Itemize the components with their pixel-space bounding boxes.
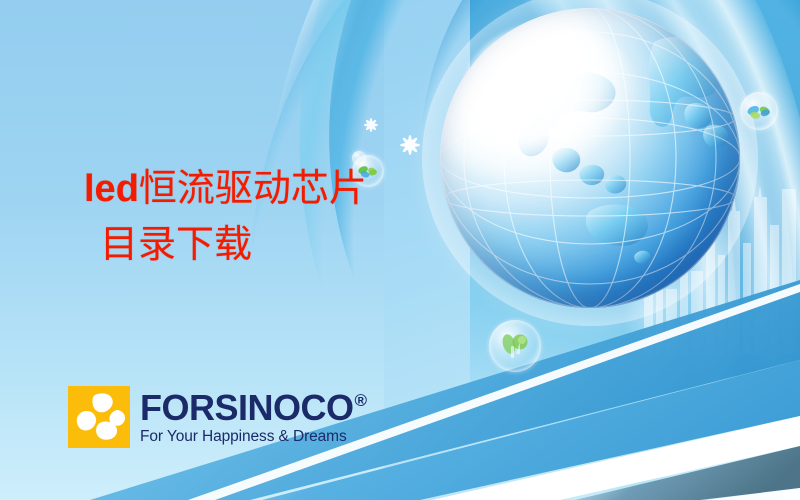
flower-petals: [68, 386, 130, 448]
headline-latin: led: [84, 168, 139, 210]
logo-tagline: For Your Happiness & Dreams: [140, 429, 367, 445]
starburst-icon-large: [396, 131, 424, 159]
headline-han: 恒流驱动芯片: [139, 166, 367, 210]
leaf-pair-icon: [489, 320, 541, 372]
logo-wordmark-text: FORSINOCO: [140, 390, 354, 426]
bubble-leaf-large: [489, 320, 541, 372]
headline-line-2: 目录下载: [100, 220, 367, 269]
page-title: led恒流驱动芯片 目录下载: [84, 164, 367, 268]
logo-wordmark: FORSINOCO®: [140, 390, 367, 426]
bubble-pinwheel-topright: [740, 92, 778, 130]
brand-logo: FORSINOCO® For Your Happiness & Dreams: [68, 386, 367, 448]
registered-trademark-icon: ®: [355, 392, 367, 409]
four-petal-flower-icon: [68, 386, 130, 448]
diagonal-band-group: [0, 240, 800, 500]
starburst-icon-small: [361, 115, 381, 135]
headline-line-1: led恒流驱动芯片: [84, 164, 367, 214]
pinwheel-icon: [740, 92, 778, 130]
logo-text-lockup: FORSINOCO® For Your Happiness & Dreams: [140, 390, 367, 445]
promo-banner: led恒流驱动芯片 目录下载 FORSINOCO® For Your Happi…: [0, 0, 800, 500]
